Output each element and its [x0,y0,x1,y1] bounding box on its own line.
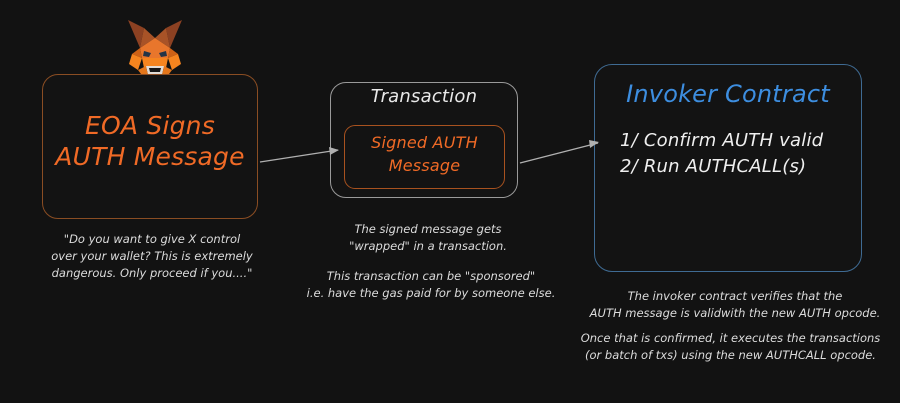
invoker-caption-1-line-2: AUTH message is validwith the new AUTH o… [570,305,900,322]
invoker-caption-2-line-2: (or batch of txs) using the new AUTHCALL… [558,347,900,364]
transaction-caption-1-line-1: The signed message gets [318,221,538,238]
eoa-caption-line-1: "Do you want to give X control [36,231,268,248]
transaction-caption-1: The signed message gets "wrapped" in a t… [318,221,538,255]
arrow-eoa-to-transaction-line [260,150,338,162]
signed-auth-line-2: Message [344,154,505,177]
signed-auth-line-1: Signed AUTH [344,131,505,154]
eoa-caption: "Do you want to give X control over your… [36,231,268,282]
invoker-contract-title: Invoker Contract [594,80,862,108]
invoker-caption-2: Once that is confirmed, it executes the … [558,330,900,364]
metamask-fox-icon [124,18,186,78]
transaction-caption-2-line-2: i.e. have the gas paid for by someone el… [296,285,566,302]
invoker-caption-2-line-1: Once that is confirmed, it executes the … [558,330,900,347]
invoker-caption-1: The invoker contract verifies that the A… [570,288,900,322]
transaction-caption-1-line-2: "wrapped" in a transaction. [318,238,538,255]
diagram-canvas: EOA Signs AUTH Message "Do you want to g… [0,0,900,403]
transaction-box-title: Transaction [330,86,518,107]
transaction-caption-2: This transaction can be "sponsored" i.e.… [296,268,566,302]
eoa-caption-line-2: over your wallet? This is extremely [36,248,268,265]
arrow-transaction-to-invoker-line [520,143,598,163]
invoker-step-1: 1/ Confirm AUTH valid [620,128,860,154]
invoker-caption-1-line-1: The invoker contract verifies that the [570,288,900,305]
transaction-caption-2-line-1: This transaction can be "sponsored" [296,268,566,285]
invoker-contract-steps: 1/ Confirm AUTH valid 2/ Run AUTHCALL(s) [620,128,860,180]
invoker-step-2: 2/ Run AUTHCALL(s) [620,154,860,180]
eoa-box-title: EOA Signs AUTH Message [42,110,258,172]
eoa-title-line-2: AUTH Message [42,141,258,172]
eoa-title-line-1: EOA Signs [42,110,258,141]
signed-auth-message-label: Signed AUTH Message [344,131,505,177]
eoa-caption-line-3: dangerous. Only proceed if you...." [36,265,268,282]
